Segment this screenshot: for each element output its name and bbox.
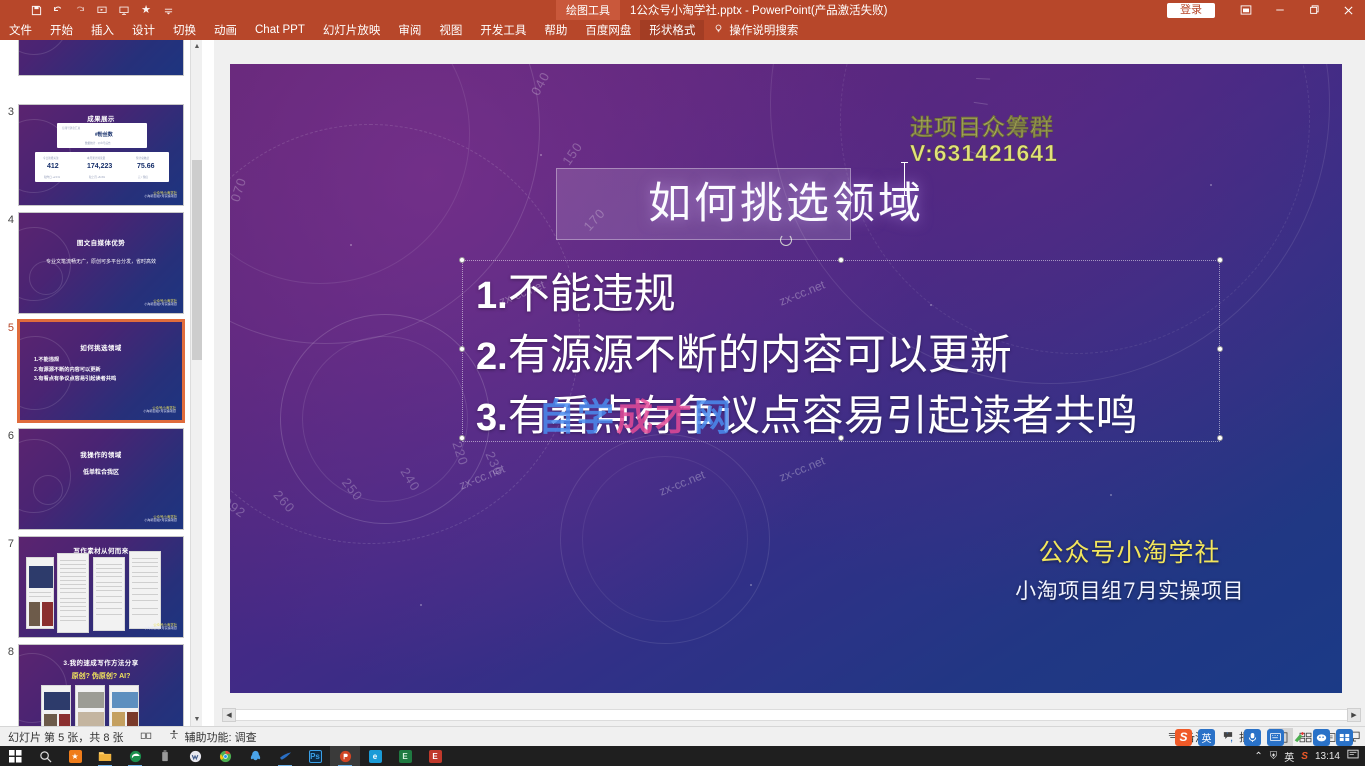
stat-value: 75.66 [137, 163, 155, 170]
tab-animations[interactable]: 动画 [205, 20, 246, 40]
thumbnail-footer: 公众号小淘学社小淘项目组7月实操项目 [144, 623, 177, 631]
ime-floating-toolbar[interactable]: S 英 ˙, [1171, 726, 1357, 748]
tray-overflow-icon[interactable]: ⌃ [1254, 751, 1262, 762]
stat-label: 本月累计阅读量 [87, 156, 105, 160]
thumbnail-preview[interactable]: 如何挑选领域 1.不能违规 2.有源源不断的内容可以更新 3.有看点有争议点容易… [18, 320, 184, 422]
title-bar: ★ 绘图工具 1公众号小淘学社.pptx - PowerPoint(产品激活失败… [0, 0, 1365, 20]
notification-icon[interactable] [1347, 749, 1359, 763]
thumbnail-title: 我操作的领域 [19, 449, 183, 459]
tab-view[interactable]: 视图 [430, 20, 471, 40]
excel-icon[interactable]: E [390, 746, 420, 766]
scroll-down-icon[interactable]: ▼ [191, 713, 202, 726]
tab-baidu-netdisk[interactable]: 百度网盘 [576, 20, 640, 40]
thumbnail-title: 图文自媒体优势 [19, 237, 183, 247]
stat-label: 预计总收益 [136, 156, 149, 160]
tab-insert[interactable]: 插入 [82, 20, 123, 40]
tab-slideshow[interactable]: 幻灯片放映 [314, 20, 390, 40]
file-explorer-icon[interactable] [90, 746, 120, 766]
ime-lang-indicator[interactable]: 英 [1284, 749, 1294, 764]
lightbulb-icon [713, 23, 724, 37]
thumbnail-subtitle: 低单粒合我区 [19, 467, 183, 476]
usb-icon[interactable] [150, 746, 180, 766]
thumbnail-number: 2 [0, 40, 18, 76]
resize-handle-n[interactable] [838, 257, 844, 263]
thumbnail-number: 3 [0, 104, 18, 206]
thumbnail-preview[interactable]: 图文自媒体优势 专业文笔流畅无广，原创可多平台分发，省时高效 公众号小淘学社小淘… [18, 212, 184, 314]
search-icon[interactable] [30, 746, 60, 766]
slide-counter[interactable]: 幻灯片 第 5 张，共 8 张 [0, 729, 132, 745]
ime-voice-icon[interactable] [1244, 729, 1261, 746]
minimize-icon[interactable] [1263, 0, 1297, 20]
resize-handle-sw[interactable] [459, 435, 465, 441]
thumbnail-title: 3.我的速成写作方法分享 [19, 657, 183, 667]
powerpoint-icon[interactable] [330, 746, 360, 766]
text-selection-highlight [556, 168, 851, 240]
ime-language-icon[interactable]: 英 [1198, 729, 1215, 746]
thumbnail-slide-5[interactable]: 5 如何挑选领域 1.不能违规 2.有源源不断的内容可以更新 3.有看点有争议点… [0, 320, 202, 422]
thumbnail-scrollbar[interactable]: ▲ ▼ [190, 40, 202, 726]
tab-developer[interactable]: 开发工具 [471, 20, 535, 40]
thumbnail-preview[interactable] [18, 40, 184, 76]
accessibility-icon [168, 729, 180, 744]
ime-keyboard-icon[interactable] [1267, 729, 1284, 746]
tab-design[interactable]: 设计 [123, 20, 164, 40]
wechat-icon[interactable]: E [420, 746, 450, 766]
thumbnail-subtitle: 专业文笔流畅无广，原创可多平台分发，省时高效 [19, 258, 183, 265]
qq-icon[interactable] [240, 746, 270, 766]
scroll-up-icon[interactable]: ▲ [191, 40, 202, 53]
thumbnail-slide-3[interactable]: 3 成果展示 订阅号消息汇总 #粉丝数 数据统计 · 公众号后台 今日新增关注 … [0, 104, 202, 206]
system-tray: ⌃ ⛨ 英 S 13:14 [1254, 746, 1365, 766]
footer-brand-sub: 小淘项目组7月实操项目 [1015, 575, 1244, 605]
hscroll-track[interactable] [236, 709, 1347, 721]
start-icon[interactable] [0, 746, 30, 766]
slide-canvas[interactable]: 040 150 170 070 260 220 230 240 250 092 … [230, 64, 1342, 693]
resize-handle-nw[interactable] [459, 257, 465, 263]
tab-chat-ppt[interactable]: Chat PPT [246, 20, 314, 40]
resize-handle-ne[interactable] [1217, 257, 1223, 263]
bullet-item-1: 1.不能违规 [476, 264, 1256, 325]
horizontal-scrollbar[interactable]: ◀ ▶ [222, 708, 1361, 722]
ime-skin-icon[interactable] [1290, 729, 1307, 746]
windows-taskbar: ★ Ps e E E ⌃ ⛨ 英 S 13:14 [0, 746, 1365, 766]
tab-file[interactable]: 文件 [0, 20, 41, 40]
thumbnail-footer: 公众号小淘学社小淘项目组7月实操项目 [143, 406, 176, 414]
footer-brand-name: 公众号小淘学社 [1015, 533, 1244, 569]
thumbnail-title: 如何挑选领域 [20, 342, 182, 352]
text-caret [904, 162, 905, 196]
start-presentation-icon[interactable] [92, 2, 112, 19]
bullet-item-2: 2.有源源不断的内容可以更新 [476, 325, 1256, 386]
thumbnail-slide-6[interactable]: 6 我操作的领域 低单粒合我区 公众号小淘学社小淘项目组7月实操项目 [0, 428, 202, 530]
thumbnail-title: 成果展示 [19, 113, 183, 123]
language-icon[interactable] [132, 731, 160, 742]
thumbnail-footer: 公众号小淘学社小淘项目组7月实操项目 [144, 515, 177, 523]
tab-review[interactable]: 审阅 [389, 20, 430, 40]
thumbnail-number: 8 [0, 644, 18, 726]
paint-icon[interactable] [270, 746, 300, 766]
thumbnail-slide-7[interactable]: 7 写作素材从何而来 [0, 536, 202, 638]
chrome-icon[interactable] [210, 746, 240, 766]
tab-shape-format[interactable]: 形状格式 [640, 20, 704, 40]
photoshop-icon[interactable]: Ps [300, 746, 330, 766]
tell-me-label: 操作说明搜索 [729, 22, 798, 38]
sogou-icon[interactable]: S [1175, 729, 1192, 746]
watermark-site: zx-cc.net [777, 454, 827, 485]
edge-icon[interactable] [120, 746, 150, 766]
status-bar: 幻灯片 第 5 张，共 8 张 辅助功能: 调查 备注 批注 [0, 726, 1365, 746]
stat-value: 174,223 [87, 163, 112, 170]
sogou-tray-icon[interactable]: S [1301, 751, 1308, 762]
undo-icon[interactable] [48, 2, 68, 19]
slide-thumbnail-pane[interactable]: 2 3 成果展示 订阅号消息汇总 #粉丝数 数据统计 · 公众号后台 今日新增关… [0, 40, 202, 726]
thumbnail-footer: 公众号小淘学社小淘项目组7月实操项目 [144, 191, 177, 199]
stat-label: 今日新增关注 [43, 156, 59, 160]
thumbnail-preview[interactable]: 写作素材从何而来 [18, 536, 184, 638]
thumbnail-preview[interactable]: 3.我的速成写作方法分享 原创? 伪原创? AI? 公众号 [18, 644, 184, 726]
thumbnail-subtitle: 原创? 伪原创? AI? [19, 671, 183, 681]
accessibility-status[interactable]: 辅助功能: 调查 [160, 729, 265, 745]
ribbon-tab-strip: 文件 开始 插入 设计 切换 动画 Chat PPT 幻灯片放映 审阅 视图 开… [0, 20, 1365, 40]
outlook-icon[interactable]: e [360, 746, 390, 766]
thumbnail-number: 7 [0, 536, 18, 638]
thumbnail-slide-8[interactable]: 8 3.我的速成写作方法分享 原创? 伪原创? AI? [0, 644, 202, 726]
tray-security-icon[interactable]: ⛨ [1270, 751, 1278, 762]
tab-home[interactable]: 开始 [41, 20, 82, 40]
close-icon[interactable] [1331, 0, 1365, 20]
redo-icon[interactable] [70, 2, 90, 19]
watermark-group-promo: 进项目众筹群 V:631421641 [910, 114, 1058, 167]
thumbnail-footer: 公众号小淘学社小淘项目组7月实操项目 [144, 299, 177, 307]
thumbnail-slide-4[interactable]: 4 图文自媒体优势 专业文笔流畅无广，原创可多平台分发，省时高效 公众号小淘学社… [0, 212, 202, 314]
present-icon[interactable] [114, 2, 134, 19]
tell-me-search[interactable]: 操作说明搜索 [704, 20, 807, 40]
quick-access-toolbar: ★ [0, 2, 178, 19]
thumbnail-preview[interactable]: 成果展示 订阅号消息汇总 #粉丝数 数据统计 · 公众号后台 今日新增关注 41… [18, 104, 184, 206]
ime-emoji-icon[interactable] [1313, 729, 1330, 746]
app-orange-icon[interactable]: ★ [60, 746, 90, 766]
thumbnail-slide-2[interactable]: 2 [0, 40, 202, 76]
thumbnail-number: 5 [0, 320, 18, 422]
thumbnail-preview[interactable]: 我操作的领域 低单粒合我区 公众号小淘学社小淘项目组7月实操项目 [18, 428, 184, 530]
tab-transitions[interactable]: 切换 [164, 20, 205, 40]
ime-toolbox-icon[interactable] [1336, 729, 1353, 746]
resize-handle-w[interactable] [459, 346, 465, 352]
favorites-icon[interactable]: ★ [136, 2, 156, 19]
scroll-right-icon[interactable]: ▶ [1347, 708, 1361, 722]
slide-footer-brand: 公众号小淘学社 小淘项目组7月实操项目 [1015, 533, 1244, 605]
thumbnail-number: 4 [0, 212, 18, 314]
thumbnail-bullets: 1.不能违规 2.有源源不断的内容可以更新 3.有看点有争议点容易引起读者共鸣 [34, 356, 116, 385]
restore-icon[interactable] [1297, 0, 1331, 20]
thumbnail-number: 6 [0, 428, 18, 530]
document-title: 1公众号小淘学社.pptx - PowerPoint(产品激活失败) [630, 0, 888, 20]
ime-punctuation-icon[interactable]: ˙, [1221, 729, 1238, 746]
watermark-group-line1: 进项目众筹群 [910, 114, 1058, 140]
slide-editor-pane[interactable]: 040 150 170 070 260 220 230 240 250 092 … [214, 40, 1365, 726]
clock[interactable]: 13:14 [1315, 751, 1340, 762]
more-commands-icon[interactable] [158, 2, 178, 19]
contextual-tab-label: 绘图工具 [556, 0, 620, 20]
watermark-group-line2: V:631421641 [910, 140, 1058, 166]
signin-button[interactable]: 登录 [1167, 3, 1215, 18]
scrollbar-thumb[interactable] [192, 160, 202, 360]
work-area: 2 3 成果展示 订阅号消息汇总 #粉丝数 数据统计 · 公众号后台 今日新增关… [0, 40, 1365, 726]
tab-help[interactable]: 帮助 [535, 20, 576, 40]
watermark-center: 自学成才网 [538, 387, 733, 441]
wps-icon[interactable] [180, 746, 210, 766]
stat-value: 412 [47, 163, 59, 170]
save-icon[interactable] [26, 2, 46, 19]
ribbon-display-options-icon[interactable] [1229, 0, 1263, 20]
scroll-left-icon[interactable]: ◀ [222, 708, 236, 722]
window-controls: 登录 [1167, 0, 1365, 20]
